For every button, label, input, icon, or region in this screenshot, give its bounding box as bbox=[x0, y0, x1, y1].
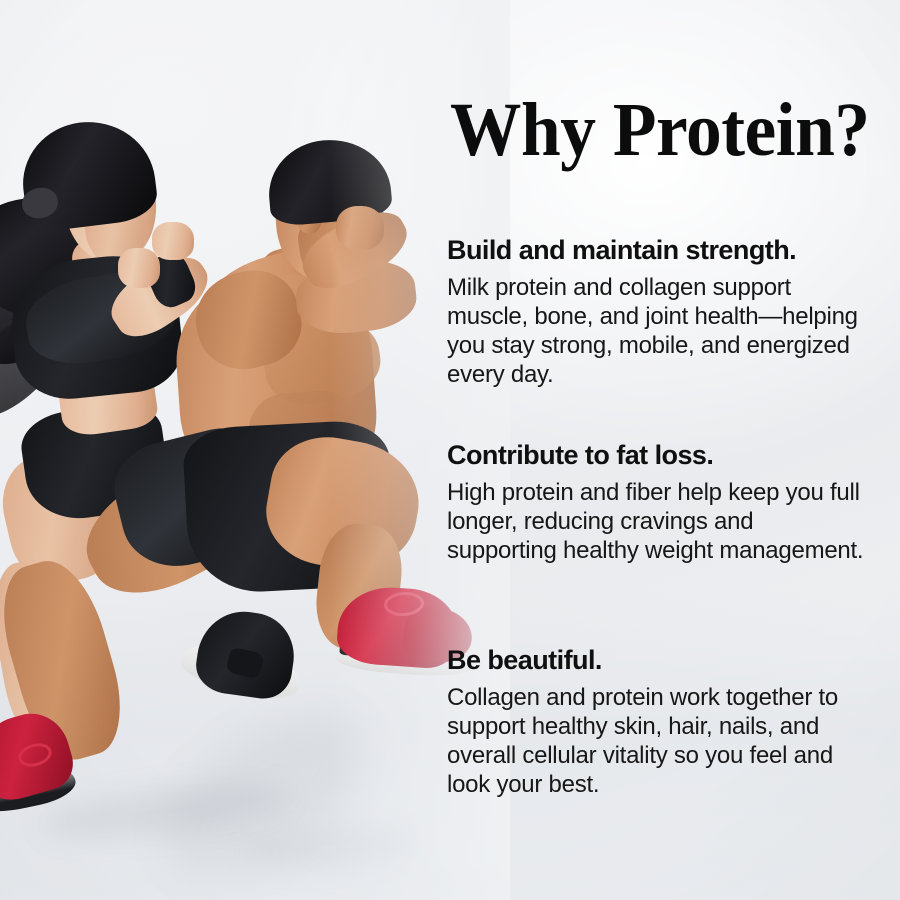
benefit-body: High protein and fiber help keep you ful… bbox=[447, 478, 867, 565]
protein-benefits-poster: Why Protein? Build and maintain strength… bbox=[0, 0, 900, 900]
benefit-body: Collagen and protein work together to su… bbox=[447, 683, 867, 799]
female-fist-lower bbox=[118, 248, 160, 288]
benefit-section-fat-loss: Contribute to fat loss. High protein and… bbox=[447, 441, 867, 565]
copy-column: Why Protein? Build and maintain strength… bbox=[447, 0, 867, 900]
benefit-section-be-beautiful: Be beautiful. Collagen and protein work … bbox=[447, 646, 867, 799]
benefit-section-build-strength: Build and maintain strength. Milk protei… bbox=[447, 236, 867, 389]
benefit-heading: Contribute to fat loss. bbox=[447, 441, 867, 470]
benefit-heading: Build and maintain strength. bbox=[447, 236, 867, 265]
benefit-body: Milk protein and collagen support muscle… bbox=[447, 273, 867, 389]
male-fist bbox=[336, 206, 384, 250]
benefit-heading: Be beautiful. bbox=[447, 646, 867, 675]
athletes-photo bbox=[0, 0, 500, 900]
page-title: Why Protein? bbox=[450, 92, 870, 168]
female-fist-upper bbox=[152, 222, 194, 260]
